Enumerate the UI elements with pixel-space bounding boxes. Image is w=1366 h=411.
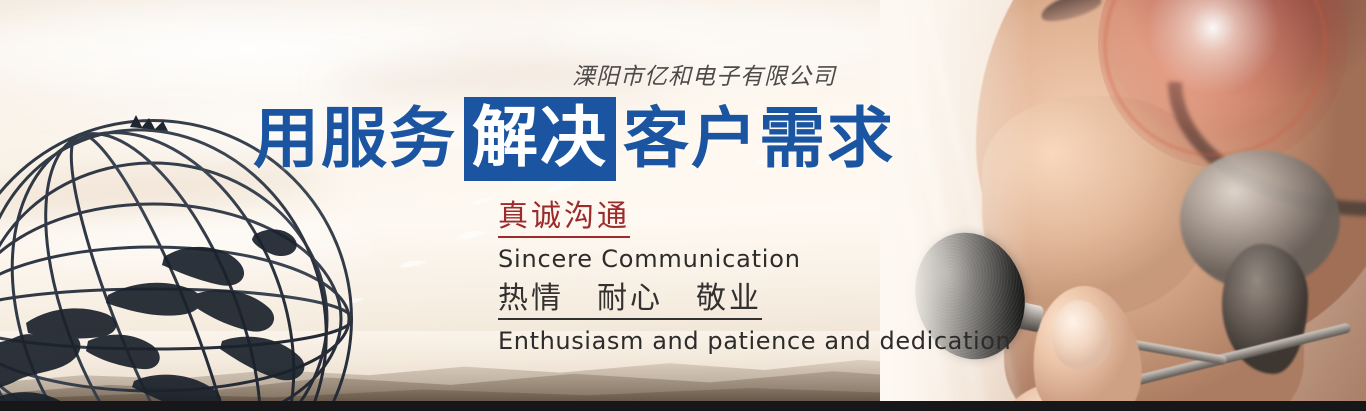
slogan-block: 真诚沟通 Sincere Communication 热情 耐心 敬业 Enth… <box>498 200 1011 356</box>
slogan-line-2-en: Enthusiasm and patience and dedication <box>498 326 1011 356</box>
bottom-bar <box>0 401 1366 411</box>
company-name: 溧阳市亿和电子有限公司 <box>572 57 836 91</box>
banner-copy: 溧阳市亿和电子有限公司 用服务 解决 客户需求 真诚沟通 Sincere Com… <box>0 0 900 401</box>
slogan-line-1-en: Sincere Communication <box>498 244 1011 274</box>
slogan-line-2-cn: 热情 耐心 敬业 <box>498 282 762 320</box>
hero-banner: 溧阳市亿和电子有限公司 用服务 解决 客户需求 真诚沟通 Sincere Com… <box>0 0 1366 411</box>
headline-part-2: 客户需求 <box>623 100 895 178</box>
headline-highlight: 解决 <box>464 97 616 181</box>
headline: 用服务 解决 客户需求 <box>253 97 895 181</box>
slogan-line-1-cn: 真诚沟通 <box>498 200 630 238</box>
headline-part-1: 用服务 <box>253 100 457 178</box>
